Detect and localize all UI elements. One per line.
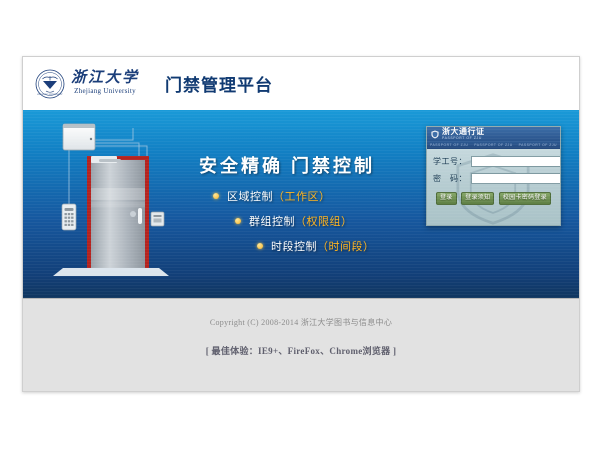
login-panel-title: 浙大通行证: [442, 128, 485, 136]
login-form: 学工号： 密 码： 登录 登录须知 校园卡密码登录: [427, 149, 560, 205]
login-button-row: 登录 登录须知 校园卡密码登录: [433, 190, 554, 205]
list-item: 群组控制 （权限组）: [235, 213, 375, 229]
password-input[interactable]: [471, 173, 561, 184]
feature-detail: （时间段）: [317, 238, 375, 254]
feature-detail: （工作区）: [273, 188, 331, 204]
feature-label: 群组控制: [249, 213, 295, 229]
copyright-text: Copyright (C) 2008-2014 浙江大学图书与信息中心: [210, 317, 392, 328]
strip-text: PASSPORT OF ZJU: [474, 143, 512, 147]
shield-icon: [431, 130, 439, 139]
password-row: 密 码：: [433, 173, 554, 184]
logo-chinese-name: 浙江大学: [71, 71, 139, 86]
svg-text:ZHEJIANG UNIVERSITY: ZHEJIANG UNIVERSITY: [37, 93, 63, 96]
login-panel-subtitle: PASSPORT OF ZJU: [442, 136, 485, 140]
list-item: 区域控制 （工作区）: [213, 188, 375, 204]
username-input[interactable]: [471, 156, 561, 167]
passport-strip: PASSPORT OF ZJU PASSPORT OF ZJU PASSPORT…: [427, 141, 560, 149]
username-label: 学工号：: [433, 156, 467, 167]
login-notice-button[interactable]: 登录须知: [461, 192, 494, 205]
feature-detail: （权限组）: [295, 213, 353, 229]
door-access-control-illustration: [47, 116, 177, 294]
username-row: 学工号：: [433, 156, 554, 167]
university-logo[interactable]: ZHEJIANG UNIVERSITY 浙江大学 Zhejiang Univer…: [35, 69, 139, 99]
app-window: ZHEJIANG UNIVERSITY 浙江大学 Zhejiang Univer…: [22, 56, 580, 392]
site-footer: Copyright (C) 2008-2014 浙江大学图书与信息中心 [ 最佳…: [23, 298, 579, 391]
bullet-dot-icon: [235, 218, 241, 224]
campus-card-login-button[interactable]: 校园卡密码登录: [499, 192, 551, 205]
login-panel-titlebar: 浙大通行证 PASSPORT OF ZJU: [427, 127, 560, 141]
banner-headline: 安全精确 门禁控制: [199, 152, 375, 178]
bullet-dot-icon: [257, 243, 263, 249]
logo-english-name: Zhejiang University: [74, 87, 136, 96]
password-label: 密 码：: [433, 173, 467, 184]
site-header: ZHEJIANG UNIVERSITY 浙江大学 Zhejiang Univer…: [23, 57, 579, 110]
zju-seal-icon: ZHEJIANG UNIVERSITY: [35, 69, 65, 99]
login-button[interactable]: 登录: [436, 192, 457, 205]
strip-text: PASSPORT OF ZJU: [430, 143, 468, 147]
login-panel: 浙大通行证 PASSPORT OF ZJU PASSPORT OF ZJU PA…: [426, 126, 561, 226]
bullet-dot-icon: [213, 193, 219, 199]
feature-label: 区域控制: [227, 188, 273, 204]
list-item: 时段控制 （时间段）: [257, 238, 375, 254]
hero-banner: 安全精确 门禁控制 区域控制 （工作区） 群组控制 （权限组） 时段控制 （时间…: [23, 110, 579, 298]
feature-list: 区域控制 （工作区） 群组控制 （权限组） 时段控制 （时间段）: [213, 188, 375, 263]
feature-label: 时段控制: [271, 238, 317, 254]
page-title: 门禁管理平台: [165, 71, 273, 96]
strip-text: PASSPORT OF ZJU: [519, 143, 557, 147]
browser-support-text: [ 最佳体验：IE9+、FireFox、Chrome浏览器 ]: [206, 344, 397, 357]
